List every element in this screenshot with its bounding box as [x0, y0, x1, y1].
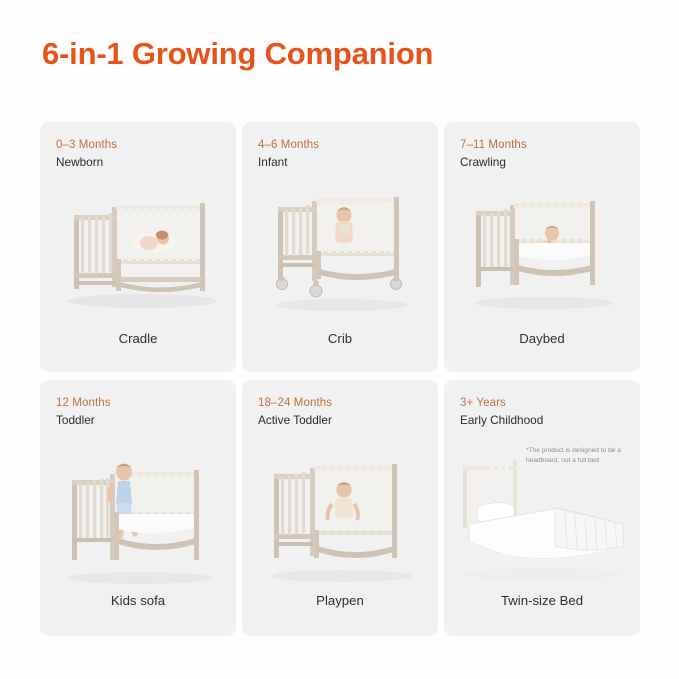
stage-card-kids-sofa[interactable]: 12 Months Toddler — [40, 380, 236, 636]
stage-card-playpen[interactable]: 18–24 Months Active Toddler — [242, 380, 438, 636]
card-stage-label: Early Childhood — [460, 413, 543, 427]
card-age-label: 7–11 Months — [460, 139, 527, 151]
stage-card-daybed[interactable]: 7–11 Months Crawling — [444, 122, 640, 372]
playpen-illustration — [242, 442, 438, 592]
card-product-label: Crib — [242, 331, 438, 346]
card-age-label: 3+ Years — [460, 397, 506, 409]
card-stage-label: Toddler — [56, 413, 95, 427]
stage-card-twin-size-bed[interactable]: 3+ Years Early Childhood — [444, 380, 640, 636]
card-stage-label: Crawling — [460, 155, 506, 169]
cradle-illustration — [40, 178, 236, 316]
daybed-illustration — [444, 178, 640, 316]
kids-sofa-illustration — [40, 442, 236, 592]
stage-card-crib[interactable]: 4–6 Months Infant — [242, 122, 438, 372]
card-stage-label: Newborn — [56, 155, 103, 169]
headboard-footnote: *The product is designed to be a headboa… — [526, 446, 632, 465]
card-age-label: 0–3 Months — [56, 139, 117, 151]
card-product-label: Daybed — [444, 331, 640, 346]
infographic-page: 6-in-1 Growing Companion 0–3 Months Newb… — [0, 0, 679, 679]
card-product-label: Kids sofa — [40, 593, 236, 608]
card-product-label: Cradle — [40, 331, 236, 346]
card-stage-label: Active Toddler — [258, 413, 332, 427]
card-product-label: Playpen — [242, 593, 438, 608]
stage-card-cradle[interactable]: 0–3 Months Newborn — [40, 122, 236, 372]
card-age-label: 4–6 Months — [258, 139, 319, 151]
card-product-label: Twin-size Bed — [444, 593, 640, 608]
page-title: 6-in-1 Growing Companion — [42, 36, 433, 72]
card-stage-label: Infant — [258, 155, 288, 169]
card-age-label: 18–24 Months — [258, 397, 332, 409]
card-age-label: 12 Months — [56, 397, 111, 409]
crib-with-casters-illustration — [242, 178, 438, 316]
stage-card-grid: 0–3 Months Newborn — [40, 122, 640, 636]
